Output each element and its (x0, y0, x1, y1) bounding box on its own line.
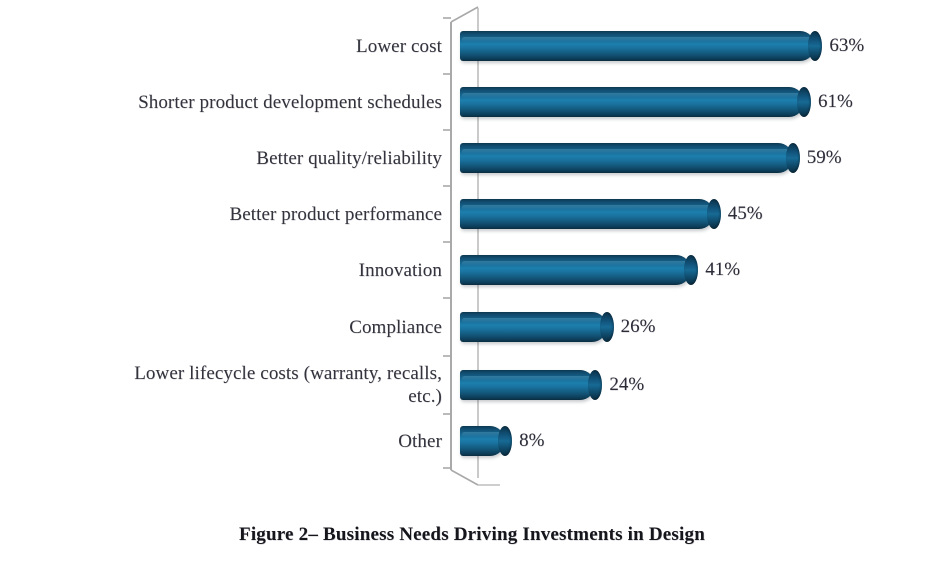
bar-row[interactable]: 61% (460, 74, 853, 130)
bar-row[interactable]: 26% (460, 298, 655, 356)
bar-value-label: 24% (609, 374, 644, 396)
bar-row[interactable]: 24% (460, 356, 644, 414)
bar-row[interactable]: 45% (460, 186, 763, 242)
chart-plot-area: Lower costShorter product development sc… (0, 0, 944, 500)
bar-value-label: 8% (519, 430, 544, 452)
bar-8[interactable] (460, 426, 505, 456)
bar-value-label: 63% (829, 35, 864, 57)
bar-5[interactable] (460, 255, 691, 285)
bar-value-label: 45% (728, 203, 763, 225)
bar-value-label: 41% (705, 259, 740, 281)
bar-2[interactable] (460, 87, 804, 117)
bar-row[interactable]: 8% (460, 414, 544, 468)
bar-value-label: 59% (807, 147, 842, 169)
bar-value-label: 26% (621, 316, 656, 338)
bar-value-label: 61% (818, 91, 853, 113)
bar-4[interactable] (460, 199, 714, 229)
bar-7[interactable] (460, 370, 595, 400)
bar-series: 63%61%59%45%41%26%24%8% (0, 0, 944, 500)
bar-row[interactable]: 41% (460, 242, 740, 298)
bar-row[interactable]: 59% (460, 130, 842, 186)
bar-1[interactable] (460, 31, 815, 61)
bar-row[interactable]: 63% (460, 18, 864, 74)
figure-container: Lower costShorter product development sc… (0, 0, 944, 569)
figure-caption: Figure 2– Business Needs Driving Investm… (0, 524, 944, 546)
bar-6[interactable] (460, 312, 607, 342)
bar-3[interactable] (460, 143, 793, 173)
